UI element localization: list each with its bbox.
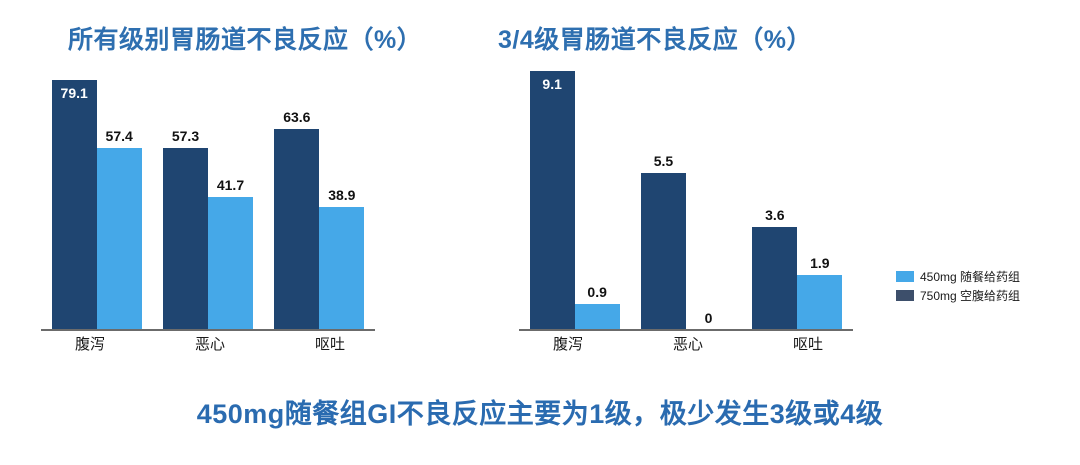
bar-group-vomiting-left: 63.6 38.9 <box>274 55 364 329</box>
bar-value-label: 63.6 <box>283 110 310 124</box>
bar-wrap: 38.9 <box>319 55 364 329</box>
legend-swatch-icon-450mg <box>896 271 914 282</box>
legend-item-750mg[interactable]: 750mg 空腹给药组 <box>896 287 1020 304</box>
right-bar-groups: 9.1 0.9 5.5 <box>519 55 853 329</box>
bar-group-nausea-right: 5.5 0 <box>641 55 731 329</box>
right-plot-area: 9.1 0.9 5.5 <box>519 55 853 331</box>
bar-wrap: 3.6 <box>752 55 797 329</box>
bar-value-label: 57.3 <box>172 129 199 143</box>
legend-label-750mg: 750mg 空腹给药组 <box>920 287 1020 304</box>
left-category-labels: 腹泻 恶心 呕吐 <box>30 333 390 354</box>
bar-wrap: 5.5 <box>641 55 686 329</box>
bar-value-label: 9.1 <box>542 77 561 91</box>
bar-750mg-vomiting-left[interactable]: 63.6 <box>274 129 319 329</box>
bar-750mg-vomiting-right[interactable]: 3.6 <box>752 227 797 329</box>
bar-value-label: 41.7 <box>217 178 244 192</box>
bar-wrap: 0.9 <box>575 55 620 329</box>
bar-group-vomiting-right: 3.6 1.9 <box>752 55 842 329</box>
bar-wrap: 57.4 <box>97 55 142 329</box>
left-plot-area: 79.1 57.4 57.3 <box>41 55 375 331</box>
right-category-labels: 腹泻 恶心 呕吐 <box>508 333 868 354</box>
right-chart-title: 3/4级胃肠道不良反应（%） <box>498 20 812 56</box>
bar-wrap: 57.3 <box>163 55 208 329</box>
bar-group-diarrhea-right: 9.1 0.9 <box>530 55 620 329</box>
bar-750mg-diarrhea-left[interactable]: 79.1 <box>52 80 97 329</box>
bar-wrap: 41.7 <box>208 55 253 329</box>
bar-value-label: 0.9 <box>587 285 606 299</box>
bar-750mg-diarrhea-right[interactable]: 9.1 <box>530 71 575 329</box>
bar-value-label: 0 <box>705 311 713 325</box>
bar-group-diarrhea-left: 79.1 57.4 <box>52 55 142 329</box>
bar-450mg-vomiting-left[interactable]: 38.9 <box>319 207 364 329</box>
bar-450mg-diarrhea-left[interactable]: 57.4 <box>97 148 142 329</box>
bar-wrap: 9.1 <box>530 55 575 329</box>
chart-legend: 450mg 随餐给药组 750mg 空腹给药组 <box>896 268 1020 304</box>
bar-wrap: 63.6 <box>274 55 319 329</box>
bar-group-nausea-left: 57.3 41.7 <box>163 55 253 329</box>
category-label-diarrhea-right: 腹泻 <box>518 333 618 354</box>
bar-value-label: 5.5 <box>654 154 673 168</box>
summary-caption: 450mg随餐组GI不良反应主要为1级，极少发生3级或4级 <box>0 392 1080 431</box>
bar-wrap: 79.1 <box>52 55 97 329</box>
left-bar-groups: 79.1 57.4 57.3 <box>41 55 375 329</box>
bar-value-label: 79.1 <box>61 86 88 100</box>
bar-750mg-nausea-right[interactable]: 5.5 <box>641 173 686 329</box>
slide: 所有级别胃肠道不良反应（%） 79.1 57.4 <box>0 0 1080 465</box>
legend-item-450mg[interactable]: 450mg 随餐给药组 <box>896 268 1020 285</box>
bar-value-label: 57.4 <box>106 129 133 143</box>
bar-450mg-vomiting-right[interactable]: 1.9 <box>797 275 842 329</box>
bar-750mg-nausea-left[interactable]: 57.3 <box>163 148 208 329</box>
bar-value-label: 3.6 <box>765 208 784 222</box>
category-label-nausea-right: 恶心 <box>638 333 738 354</box>
left-chart-panel: 79.1 57.4 57.3 <box>30 55 390 355</box>
left-x-axis-line <box>41 329 375 331</box>
legend-label-450mg: 450mg 随餐给药组 <box>920 268 1020 285</box>
bar-wrap: 1.9 <box>797 55 842 329</box>
category-label-diarrhea-left: 腹泻 <box>40 333 140 354</box>
bar-wrap: 0 <box>686 55 731 329</box>
bar-value-label: 1.9 <box>810 256 829 270</box>
category-label-nausea-left: 恶心 <box>160 333 260 354</box>
right-x-axis-line <box>519 329 853 331</box>
left-chart-title: 所有级别胃肠道不良反应（%） <box>68 20 422 56</box>
right-chart-panel: 9.1 0.9 5.5 <box>508 55 868 355</box>
bar-value-label: 38.9 <box>328 188 355 202</box>
legend-swatch-icon-750mg <box>896 290 914 301</box>
category-label-vomiting-right: 呕吐 <box>758 333 858 354</box>
category-label-vomiting-left: 呕吐 <box>280 333 380 354</box>
bar-450mg-diarrhea-right[interactable]: 0.9 <box>575 304 620 329</box>
bar-450mg-nausea-left[interactable]: 41.7 <box>208 197 253 329</box>
